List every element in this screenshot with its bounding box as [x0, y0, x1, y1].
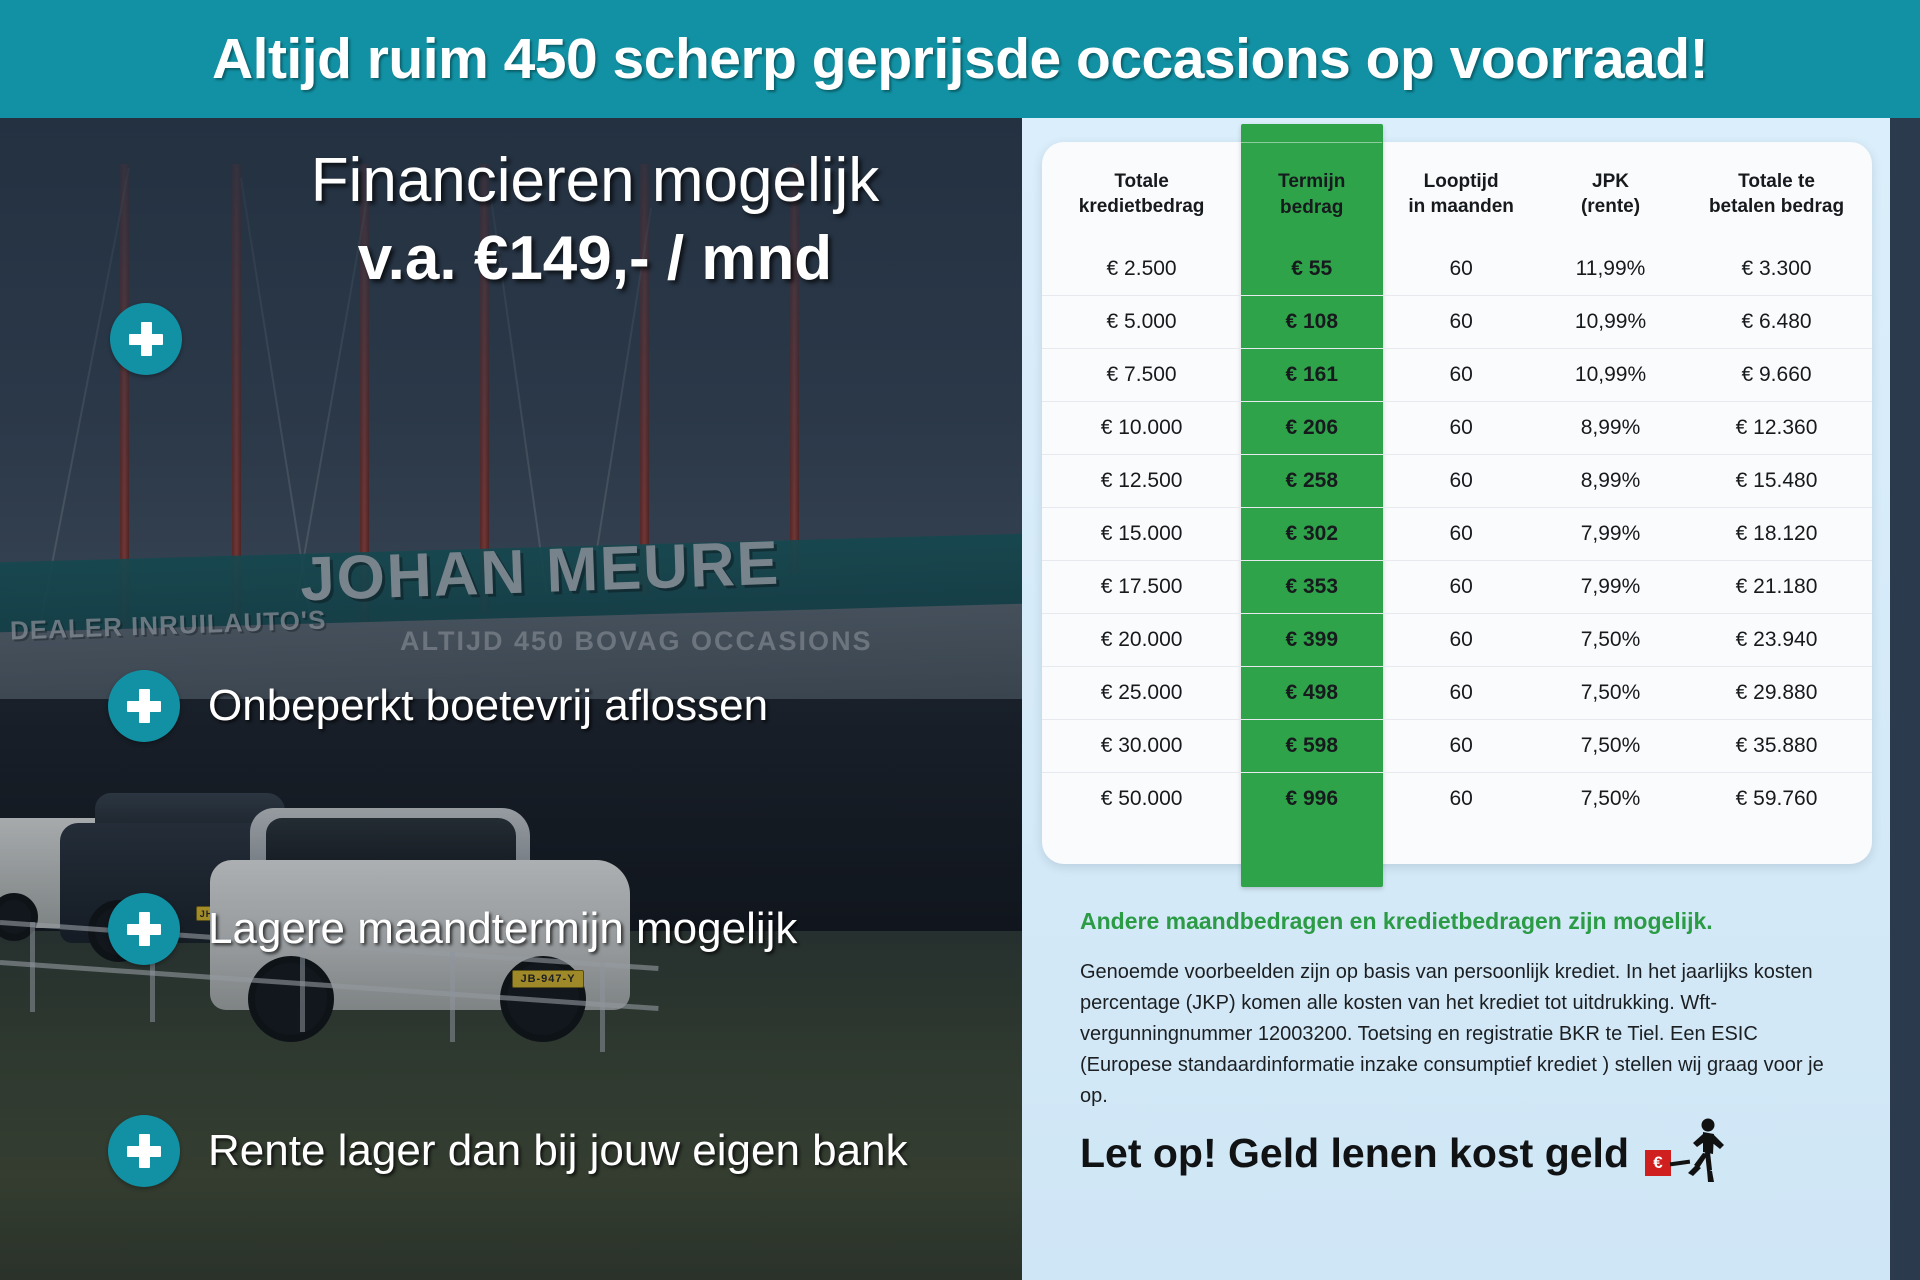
cell-krediet: € 15.000 [1042, 507, 1241, 560]
headline-line-2: v.a. €149,- / mnd [205, 223, 985, 294]
th-line-2: bedrag [1245, 195, 1378, 221]
cell-krediet: € 17.500 [1042, 560, 1241, 613]
right-info-panel: Totale kredietbedrag Termijn bedrag Loop… [1022, 118, 1890, 1280]
cell-termijn: € 996 [1241, 772, 1382, 825]
th-line-1: Totale [1046, 169, 1237, 195]
benefit-label-2: Rente lager dan bij jouw eigen bank [208, 1126, 908, 1176]
benefit-row-0: Onbeperkt boetevrij aflossen [108, 670, 768, 742]
cell-termijn: € 258 [1241, 454, 1382, 507]
cell-totaal: € 18.120 [1681, 507, 1872, 560]
table-body: € 2.500€ 556011,99%€ 3.300€ 5.000€ 10860… [1042, 242, 1872, 825]
table-row: € 17.500€ 353607,99%€ 21.180 [1042, 560, 1872, 613]
benefit-label-1: Lagere maandtermijn mogelijk [208, 904, 797, 954]
plus-icon [108, 1115, 180, 1187]
cell-looptijd: 60 [1382, 666, 1540, 719]
cell-krediet: € 50.000 [1042, 772, 1241, 825]
benefit-row-1: Lagere maandtermijn mogelijk [108, 893, 797, 965]
afm-walking-person [1683, 1118, 1727, 1184]
cell-looptijd: 60 [1382, 242, 1540, 295]
cell-jpk: 7,99% [1540, 560, 1681, 613]
cell-termijn: € 353 [1241, 560, 1382, 613]
afm-money-block: € [1645, 1150, 1671, 1176]
table-row: € 15.000€ 302607,99%€ 18.120 [1042, 507, 1872, 560]
cell-totaal: € 35.880 [1681, 719, 1872, 772]
cell-totaal: € 21.180 [1681, 560, 1872, 613]
benefit-row-financing [110, 303, 182, 375]
cell-jpk: 10,99% [1540, 295, 1681, 348]
disclaimer-block: Andere maandbedragen en kredietbedragen … [1080, 908, 1850, 1112]
plus-icon [108, 670, 180, 742]
th-line-1: Totale te [1685, 169, 1868, 195]
cell-termijn: € 498 [1241, 666, 1382, 719]
benefit-label-0: Onbeperkt boetevrij aflossen [208, 681, 768, 731]
cell-looptijd: 60 [1382, 772, 1540, 825]
cell-looptijd: 60 [1382, 454, 1540, 507]
table-row: € 5.000€ 1086010,99%€ 6.480 [1042, 295, 1872, 348]
headline-line-1: Financieren mogelijk [205, 148, 985, 213]
cell-totaal: € 29.880 [1681, 666, 1872, 719]
table-row: € 7.500€ 1616010,99%€ 9.660 [1042, 348, 1872, 401]
cell-termijn: € 598 [1241, 719, 1382, 772]
cell-looptijd: 60 [1382, 348, 1540, 401]
cell-jpk: 7,50% [1540, 772, 1681, 825]
cell-krediet: € 12.500 [1042, 454, 1241, 507]
cell-krediet: € 7.500 [1042, 348, 1241, 401]
credit-warning: Let op! Geld lenen kost geld € [1080, 1118, 1723, 1188]
cell-totaal: € 59.760 [1681, 772, 1872, 825]
left-photo-panel: JOHAN MEURE DEALER INRUILAUTO'S ALTIJD 4… [0, 118, 1022, 1280]
plus-icon [108, 893, 180, 965]
cell-termijn: € 399 [1241, 613, 1382, 666]
th-line-2: betalen bedrag [1685, 194, 1868, 220]
cell-totaal: € 3.300 [1681, 242, 1872, 295]
top-banner: Altijd ruim 450 scherp geprijsde occasio… [0, 0, 1920, 118]
cell-jpk: 8,99% [1540, 401, 1681, 454]
table-row: € 10.000€ 206608,99%€ 12.360 [1042, 401, 1872, 454]
cell-looptijd: 60 [1382, 560, 1540, 613]
cell-jpk: 7,50% [1540, 666, 1681, 719]
cell-jpk: 10,99% [1540, 348, 1681, 401]
th-jpk: JPK (rente) [1540, 143, 1681, 243]
banner-headline: Altijd ruim 450 scherp geprijsde occasio… [212, 26, 1708, 92]
cell-looptijd: 60 [1382, 507, 1540, 560]
cell-looptijd: 60 [1382, 719, 1540, 772]
cell-jpk: 7,50% [1540, 719, 1681, 772]
th-line-2: kredietbedrag [1046, 194, 1237, 220]
plus-icon [110, 303, 182, 375]
th-totale-te-betalen: Totale te betalen bedrag [1681, 143, 1872, 243]
th-line-1: Termijn [1245, 169, 1378, 195]
cell-termijn: € 206 [1241, 401, 1382, 454]
cell-totaal: € 23.940 [1681, 613, 1872, 666]
th-line-1: Looptijd [1386, 169, 1536, 195]
cell-looptijd: 60 [1382, 295, 1540, 348]
credit-warning-text: Let op! Geld lenen kost geld [1080, 1130, 1629, 1177]
th-termijn-bedrag: Termijn bedrag [1241, 143, 1382, 243]
cell-totaal: € 15.480 [1681, 454, 1872, 507]
advertisement-root: Altijd ruim 450 scherp geprijsde occasio… [0, 0, 1920, 1280]
benefits-list: Financieren mogelijk v.a. €149,- / mnd O… [0, 118, 1022, 1280]
disclaimer-title: Andere maandbedragen en kredietbedragen … [1080, 908, 1850, 935]
benefit-row-2: Rente lager dan bij jouw eigen bank [108, 1115, 908, 1187]
cell-jpk: 7,99% [1540, 507, 1681, 560]
cell-totaal: € 12.360 [1681, 401, 1872, 454]
table-row: € 50.000€ 996607,50%€ 59.760 [1042, 772, 1872, 825]
cell-jpk: 11,99% [1540, 242, 1681, 295]
cell-krediet: € 25.000 [1042, 666, 1241, 719]
financing-table-card: Totale kredietbedrag Termijn bedrag Loop… [1042, 142, 1872, 864]
cell-totaal: € 9.660 [1681, 348, 1872, 401]
cell-termijn: € 302 [1241, 507, 1382, 560]
afm-money-drag-icon: € [1643, 1118, 1723, 1188]
table-row: € 2.500€ 556011,99%€ 3.300 [1042, 242, 1872, 295]
financing-headline: Financieren mogelijk v.a. €149,- / mnd [205, 148, 985, 294]
financing-table: Totale kredietbedrag Termijn bedrag Loop… [1042, 142, 1872, 825]
table-row: € 12.500€ 258608,99%€ 15.480 [1042, 454, 1872, 507]
cell-krediet: € 20.000 [1042, 613, 1241, 666]
th-looptijd: Looptijd in maanden [1382, 143, 1540, 243]
cell-krediet: € 10.000 [1042, 401, 1241, 454]
cell-krediet: € 2.500 [1042, 242, 1241, 295]
cell-termijn: € 161 [1241, 348, 1382, 401]
cell-looptijd: 60 [1382, 401, 1540, 454]
cell-totaal: € 6.480 [1681, 295, 1872, 348]
disclaimer-body: Genoemde voorbeelden zijn op basis van p… [1080, 957, 1850, 1112]
table-row: € 30.000€ 598607,50%€ 35.880 [1042, 719, 1872, 772]
table-row: € 25.000€ 498607,50%€ 29.880 [1042, 666, 1872, 719]
table-header-row: Totale kredietbedrag Termijn bedrag Loop… [1042, 143, 1872, 243]
th-line-1: JPK [1544, 169, 1677, 195]
cell-krediet: € 30.000 [1042, 719, 1241, 772]
table-row: € 20.000€ 399607,50%€ 23.940 [1042, 613, 1872, 666]
th-line-2: (rente) [1544, 194, 1677, 220]
cell-jpk: 8,99% [1540, 454, 1681, 507]
cell-krediet: € 5.000 [1042, 295, 1241, 348]
cell-termijn: € 108 [1241, 295, 1382, 348]
th-totale-kredietbedrag: Totale kredietbedrag [1042, 143, 1241, 243]
cell-termijn: € 55 [1241, 242, 1382, 295]
th-line-2: in maanden [1386, 194, 1536, 220]
cell-looptijd: 60 [1382, 613, 1540, 666]
cell-jpk: 7,50% [1540, 613, 1681, 666]
